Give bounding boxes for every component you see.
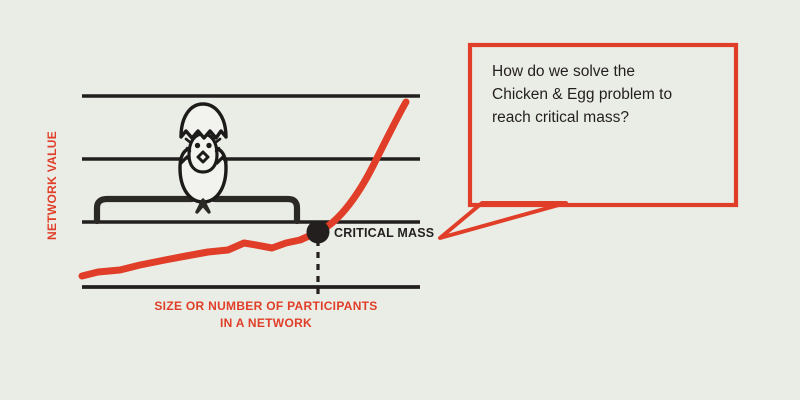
speech-bubble-line-1: How do we solve the xyxy=(492,60,724,83)
speech-bubble-line-2: Chicken & Egg problem to xyxy=(492,83,724,106)
gridlines xyxy=(82,96,420,287)
x-axis-label-line1: SIZE OR NUMBER OF PARTICIPANTS xyxy=(154,299,377,313)
network-value-curve xyxy=(82,102,406,276)
x-axis-label-line2: IN A NETWORK xyxy=(220,316,312,330)
chick-eye-left xyxy=(195,143,200,148)
y-axis-label: NETWORK VALUE xyxy=(45,131,59,240)
curve-post-critical-segment xyxy=(318,102,406,232)
speech-bubble-line-3: reach critical mass? xyxy=(492,106,724,129)
diagram-canvas: CRITICAL MASS NETWORK VALUE SIZE OR NUMB… xyxy=(0,0,800,400)
hatching-chick-in-egg xyxy=(180,104,226,212)
egg-top-shell xyxy=(181,104,226,138)
critical-mass-label: CRITICAL MASS xyxy=(334,226,434,240)
chick-eye-right xyxy=(206,143,211,148)
chick-wing-left xyxy=(186,139,191,143)
curve-pre-critical-segment xyxy=(82,232,318,276)
critical-mass-dot[interactable] xyxy=(307,221,330,244)
speech-bubble-tail xyxy=(440,203,566,238)
speech-bubble-text: How do we solve the Chicken & Egg proble… xyxy=(492,60,724,129)
